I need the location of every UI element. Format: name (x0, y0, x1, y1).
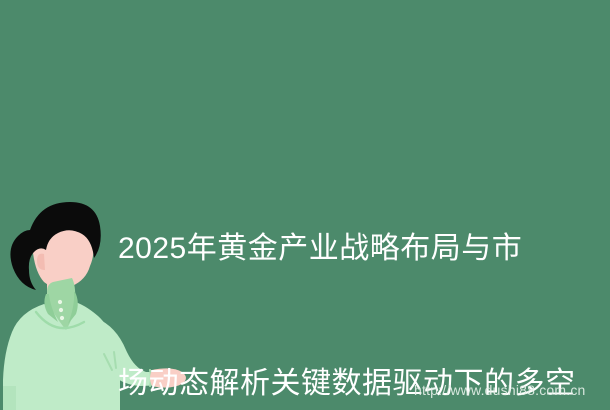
poster-title: 2025年黄金产业战略布局与市 场动态解析关键数据驱动下的多空 (118, 136, 588, 410)
title-line-1: 2025年黄金产业战略布局与市 (118, 226, 588, 271)
poster-canvas: 2025年黄金产业战略布局与市 场动态解析关键数据驱动下的多空 http://w… (0, 0, 610, 410)
button-icon (60, 316, 64, 320)
button-icon (58, 300, 62, 304)
sweater-shoulder-shade (3, 386, 16, 410)
watermark-url: http://www.dushi88.com.cn (414, 381, 586, 399)
button-icon (59, 308, 63, 312)
